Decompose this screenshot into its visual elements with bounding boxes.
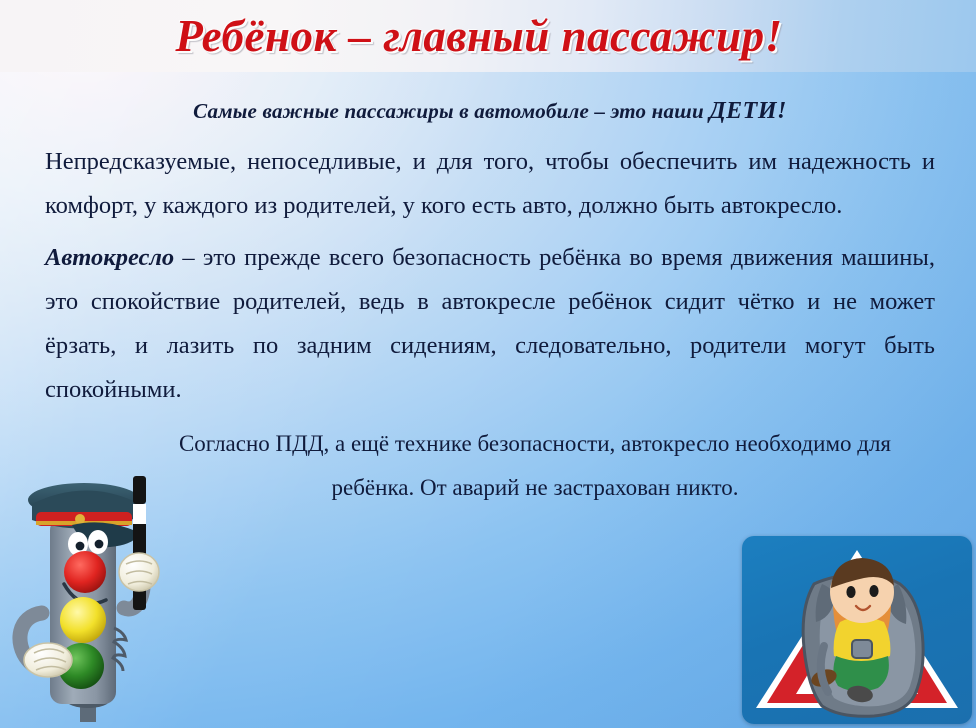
mascot-right-glove: [119, 553, 159, 591]
paragraph-1: Непредсказуемые, непоседливые, и для тог…: [45, 140, 935, 228]
paragraph-2-term: Автокресло: [45, 244, 174, 271]
paragraph-2-rest: – это прежде всего безопасность ребёнка …: [45, 244, 935, 403]
poster-root: Ребёнок – главный пассажир! Самые важные…: [0, 0, 976, 728]
child-eye-right: [869, 585, 878, 597]
traffic-light-officer-illustration: [6, 468, 176, 728]
child-eye-left: [846, 586, 855, 598]
harness-buckle: [852, 640, 872, 658]
paragraph-3: Согласно ПДД, а ещё технике безопасности…: [140, 422, 930, 510]
child-in-car-seat-icon: [742, 536, 972, 724]
mascot-pupil-left: [76, 542, 85, 551]
mascot-left-glove: [24, 643, 72, 677]
car-seat-illustration-panel: [742, 536, 972, 724]
paragraph-2: Автокресло – это прежде всего безопаснос…: [45, 236, 935, 412]
lead-line-text: Самые важные пассажиры в автомобиле – эт…: [193, 99, 709, 123]
body-text-block: Самые важные пассажиры в автомобиле – эт…: [45, 96, 935, 510]
mascot-pupil-right: [95, 540, 104, 549]
mascot-yellow-light: [60, 597, 106, 643]
mascot-red-light: [64, 551, 106, 593]
lead-line: Самые важные пассажиры в автомобиле – эт…: [45, 96, 935, 126]
traffic-light-officer-icon: [6, 468, 176, 728]
lead-emphasis-deti: ДЕТИ!: [709, 98, 787, 124]
page-title: Ребёнок – главный пассажир!: [0, 0, 976, 72]
mascot-cap-button: [75, 514, 85, 524]
